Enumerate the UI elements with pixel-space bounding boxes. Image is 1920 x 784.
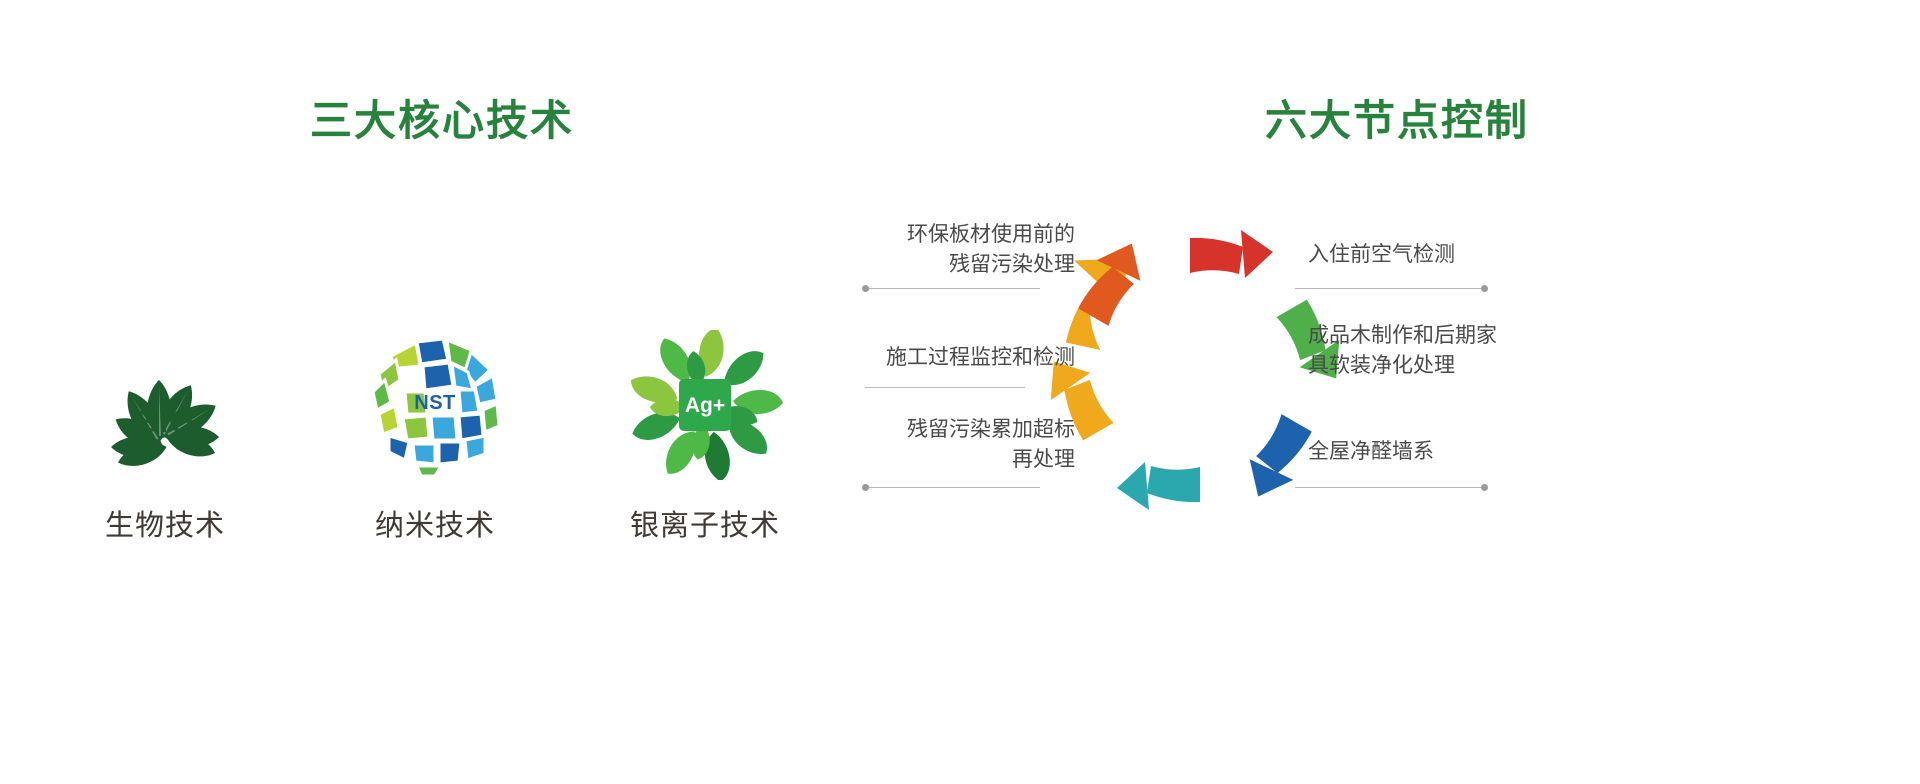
tech-label-bio: 生物技术 — [105, 502, 225, 544]
node-label-1[interactable]: 环保板材使用前的 残留污染处理 — [825, 220, 1075, 281]
node-dot-4 — [1481, 484, 1488, 491]
node-dot-2 — [1481, 285, 1488, 292]
node-label-6-line-1: 施工过程监控和检测 — [815, 343, 1075, 373]
tech-item-bio[interactable]: BIO 生物技术 — [40, 330, 290, 544]
tech-label-silver-ion: 银离子技术 — [630, 502, 780, 544]
infographic-page: 三大核心技术 六大节点控制 — [0, 0, 1920, 784]
tech-item-silver-ion[interactable]: Ag+ 银离子技术 — [580, 330, 830, 544]
node-label-2-line-1: 入住前空气检测 — [1308, 240, 1568, 270]
six-node-cycle-diagram: 环保板材使用前的 残留污染处理 入住前空气检测 成品木制作和后期家 具软装净化处… — [1040, 215, 1350, 525]
node-label-4[interactable]: 全屋净醛墙系 — [1308, 437, 1568, 467]
tech-label-nst: 纳米技术 — [375, 502, 495, 544]
node-label-5[interactable]: 残留污染累加超标 再处理 — [825, 415, 1075, 476]
node-label-3-line-1: 成品木制作和后期家 — [1308, 321, 1588, 351]
node-label-5-line-2: 再处理 — [825, 445, 1075, 475]
bio-logo-text: BIO — [70, 404, 260, 440]
node-label-3[interactable]: 成品木制作和后期家 具软装净化处理 — [1308, 321, 1588, 382]
cycle-ring-icon — [1040, 215, 1350, 525]
node-dot-5 — [862, 484, 869, 491]
node-connector-6 — [865, 387, 1025, 388]
node-label-3-line-2: 具软装净化处理 — [1308, 351, 1588, 381]
nst-logo: NST — [340, 330, 530, 480]
silver-ion-logo: Ag+ — [610, 330, 800, 480]
core-technology-list: BIO 生物技术 — [40, 330, 830, 590]
node-label-2[interactable]: 入住前空气检测 — [1308, 240, 1568, 270]
node-label-6[interactable]: 施工过程监控和检测 — [815, 343, 1075, 373]
node-connector-2 — [1295, 288, 1485, 289]
node-label-1-line-2: 残留污染处理 — [825, 250, 1075, 280]
nst-logo-text: NST — [355, 392, 515, 415]
node-label-4-line-1: 全屋净醛墙系 — [1308, 437, 1568, 467]
node-connector-5 — [865, 487, 1040, 488]
silver-ion-badge: Ag+ — [679, 379, 731, 431]
node-connector-4 — [1295, 487, 1485, 488]
right-panel-title: 六大节点控制 — [1265, 100, 1529, 142]
node-dot-1 — [862, 285, 869, 292]
tech-item-nst[interactable]: NST 纳米技术 — [310, 330, 560, 544]
bio-logo: BIO — [70, 330, 260, 480]
ring-segments — [1040, 230, 1350, 510]
left-panel-title: 三大核心技术 — [310, 100, 574, 142]
node-label-1-line-1: 环保板材使用前的 — [825, 220, 1075, 250]
node-connector-1 — [865, 288, 1040, 289]
node-label-5-line-1: 残留污染累加超标 — [825, 415, 1075, 445]
silver-ion-badge-text: Ag+ — [685, 395, 725, 416]
